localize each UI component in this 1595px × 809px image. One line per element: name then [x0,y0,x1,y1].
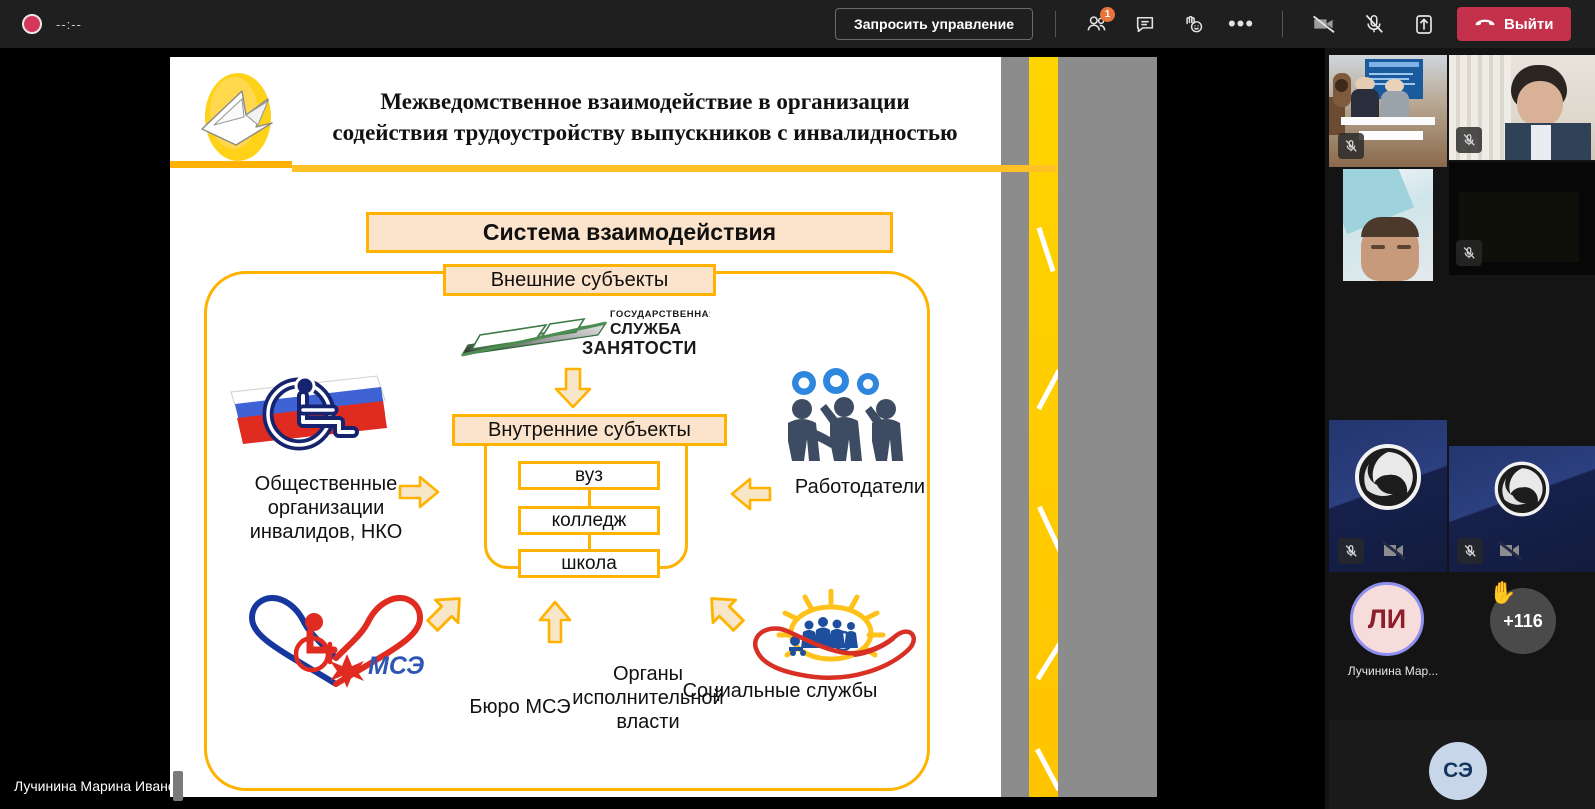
camera-off-icon [1381,540,1407,560]
tile-label-luchinina: Лучинина Мар... [1341,664,1445,678]
arrow-up-right-mse [425,592,467,632]
arrow-right-ngo [398,475,440,509]
request-control-button[interactable]: Запросить управление [835,8,1033,40]
slide-header: Межведомственное взаимодействие в органи… [170,57,1001,169]
tile-conference-room[interactable] [1329,55,1447,167]
obs-logo-icon [1353,442,1423,512]
leave-label: Выйти [1504,16,1553,33]
tile-luchinina[interactable]: ЛИ Лучинина Мар... [1329,576,1447,686]
heart-wheelchair-mse-icon: МСЭ [238,592,434,696]
tile-dark-room[interactable] [1449,162,1595,275]
businessmen-gears-icon [772,367,924,469]
speaker-name-tab [173,771,183,801]
mic-off-icon [1457,538,1483,564]
tile-obs-a[interactable] [1329,420,1447,572]
wheelchair-flag-icon [227,370,389,453]
slide-title-line-2: содействия трудоустройству выпускников с… [300,118,990,149]
arrow-left-employers [730,477,772,511]
header-rule-left [170,161,292,168]
avatar-se: СЭ [1429,742,1487,800]
employment-service-logo-icon: ГОСУДАРСТВЕННАЯ СЛУЖБА ЗАНЯТОСТИ [458,305,710,361]
people-icon[interactable]: 1 [1078,5,1116,43]
label-ngo: Общественные организации инвалидов, НКО [226,472,426,544]
reactions-icon[interactable] [1174,5,1212,43]
share-icon[interactable] [1405,5,1443,43]
presentation-slide: Межведомственное взаимодействие в органи… [170,57,1001,797]
active-speaker-name: Лучинина Марина Ивановна [14,778,199,794]
more-icon[interactable]: ••• [1222,5,1260,43]
leave-button[interactable]: Выйти [1457,7,1571,41]
mic-off-icon [1338,538,1364,564]
system-banner: Система взаимодействия [366,212,893,253]
mic-off-icon [1338,133,1364,159]
recording-dot-icon [22,14,42,34]
mic-off-icon [1456,240,1482,266]
more-dots: ••• [1228,17,1254,30]
recording-status: --:-- [22,14,82,34]
tile-man-desk[interactable] [1449,55,1595,160]
link-vuz-college [588,490,591,507]
internal-box-vuz: вуз [518,461,660,490]
hangup-icon [1475,17,1495,31]
meeting-toolbar: --:-- Запросить управление 1 [0,0,1595,48]
participants-badge: 1 [1100,7,1115,22]
svg-text:СЛУЖБА: СЛУЖБА [610,321,682,338]
external-subjects-banner: Внешние субъекты [443,264,716,296]
meeting-timer: --:-- [56,17,82,32]
toolbar-divider-1 [1055,11,1056,37]
label-employers: Работодатели [770,475,950,499]
camera-off-icon [1497,540,1523,560]
tile-obs-b[interactable] [1449,446,1595,572]
header-rule-right [292,165,1057,172]
tile-se[interactable]: СЭ ... [1329,720,1595,809]
dove-sun-logo-icon [184,69,292,165]
internal-subjects-banner: Внутренние субъекты [452,414,727,446]
hand-family-sun-icon [735,589,921,685]
tile-man-closeup[interactable] [1343,169,1433,281]
chat-icon[interactable] [1126,5,1164,43]
tile-overflow[interactable]: +116 ✋ [1449,576,1595,686]
arrow-up-left-social [704,592,746,632]
label-social-services: Социальные службы [670,679,890,703]
meeting-window: --:-- Запросить управление 1 [0,0,1595,809]
avatar-luchinina: ЛИ [1350,582,1424,656]
toolbar-divider-2 [1282,11,1283,37]
screen-share-frame[interactable]: Межведомственное взаимодействие в органи… [170,57,1157,797]
meeting-stage: Межведомственное взаимодействие в органи… [0,48,1325,809]
svg-text:ГОСУДАРСТВЕННАЯ: ГОСУДАРСТВЕННАЯ [610,309,710,320]
internal-box-college: колледж [518,506,660,535]
mic-off-icon [1456,127,1482,153]
mic-off-icon[interactable] [1355,5,1393,43]
svg-text:ЗАНЯТОСТИ: ЗАНЯТОСТИ [582,338,697,358]
arrow-down-service [552,367,594,409]
camera-off-icon[interactable] [1305,5,1343,43]
slide-title: Межведомственное взаимодействие в органи… [300,87,990,148]
obs-logo-icon [1493,460,1551,518]
arrow-up-authorities [538,600,572,644]
svg-text:МСЭ: МСЭ [368,652,424,680]
participant-rail: ЛИ Лучинина Мар... +116 ✋ СЭ ... [1325,48,1595,809]
slide-title-line-1: Межведомственное взаимодействие в органи… [300,87,990,118]
internal-box-school: школа [518,549,660,578]
hand-raised-icon: ✋ [1489,580,1516,606]
